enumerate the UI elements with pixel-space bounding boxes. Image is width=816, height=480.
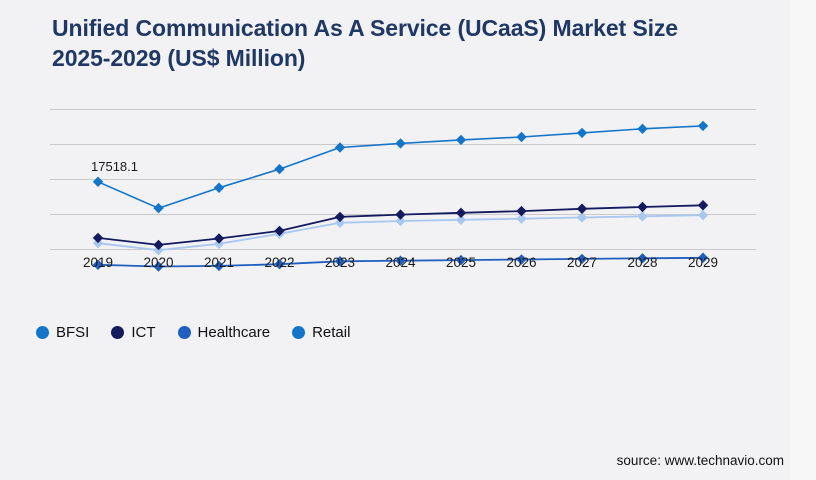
datapoint-bfsi-2029[interactable] (698, 121, 708, 131)
x-axis-label-2022: 2022 (264, 255, 294, 270)
datapoint-ict-2028[interactable] (637, 202, 647, 212)
source-attribution: source: www.technavio.com (617, 453, 784, 468)
x-axis-label-2025: 2025 (446, 255, 476, 270)
datapoint-ict-2023[interactable] (335, 212, 345, 222)
x-axis-label-2023: 2023 (325, 255, 355, 270)
datapoint-bfsi-2023[interactable] (335, 142, 345, 152)
x-axis-tick-labels: 2019202020212022202320242025202620272028… (0, 255, 816, 277)
x-axis-label-2027: 2027 (567, 255, 597, 270)
datapoint-ict-2019[interactable] (93, 233, 103, 243)
datapoint-ict-2027[interactable] (577, 204, 587, 214)
legend-label-bfsi: BFSI (56, 324, 89, 341)
x-axis-label-2029: 2029 (688, 255, 718, 270)
datapoint-ict-2025[interactable] (456, 208, 466, 218)
legend-item-retail[interactable]: Retail (292, 324, 350, 341)
datapoint-bfsi-2021[interactable] (214, 183, 224, 193)
gridlines (50, 110, 756, 250)
data-label-bfsi-2019: 17518.1 (91, 159, 138, 174)
datapoint-ict-2020[interactable] (153, 240, 163, 250)
legend-item-ict[interactable]: ICT (111, 324, 155, 341)
legend-marker-icon-healthcare (178, 326, 191, 339)
legend-item-healthcare[interactable]: Healthcare (178, 324, 271, 341)
datapoint-ict-2029[interactable] (698, 200, 708, 210)
datapoint-bfsi-2028[interactable] (637, 124, 647, 134)
datapoint-bfsi-2020[interactable] (153, 203, 163, 213)
datapoint-healthcare-2028[interactable] (637, 211, 647, 221)
legend-marker-icon-bfsi (36, 326, 49, 339)
datapoint-bfsi-2022[interactable] (274, 164, 284, 174)
chart-legend: BFSIICTHealthcareRetail (36, 324, 372, 341)
datapoint-ict-2021[interactable] (214, 233, 224, 243)
x-axis-label-2024: 2024 (385, 255, 415, 270)
x-axis-label-2026: 2026 (506, 255, 536, 270)
datapoint-bfsi-2024[interactable] (395, 138, 405, 148)
x-axis-label-2020: 2020 (143, 255, 173, 270)
x-axis-label-2021: 2021 (204, 255, 234, 270)
datapoint-bfsi-2025[interactable] (456, 135, 466, 145)
datapoint-bfsi-2019[interactable] (93, 177, 103, 187)
datapoint-bfsi-2026[interactable] (516, 132, 526, 142)
datapoint-healthcare-2029[interactable] (698, 210, 708, 220)
x-axis-label-2019: 2019 (83, 255, 113, 270)
legend-item-bfsi[interactable]: BFSI (36, 324, 89, 341)
legend-marker-icon-retail (292, 326, 305, 339)
datapoint-bfsi-2027[interactable] (577, 128, 587, 138)
datapoint-ict-2024[interactable] (395, 209, 405, 219)
legend-label-ict: ICT (131, 324, 155, 341)
x-axis-label-2028: 2028 (627, 255, 657, 270)
legend-label-healthcare: Healthcare (198, 324, 271, 341)
legend-label-retail: Retail (312, 324, 350, 341)
legend-marker-icon-ict (111, 326, 124, 339)
